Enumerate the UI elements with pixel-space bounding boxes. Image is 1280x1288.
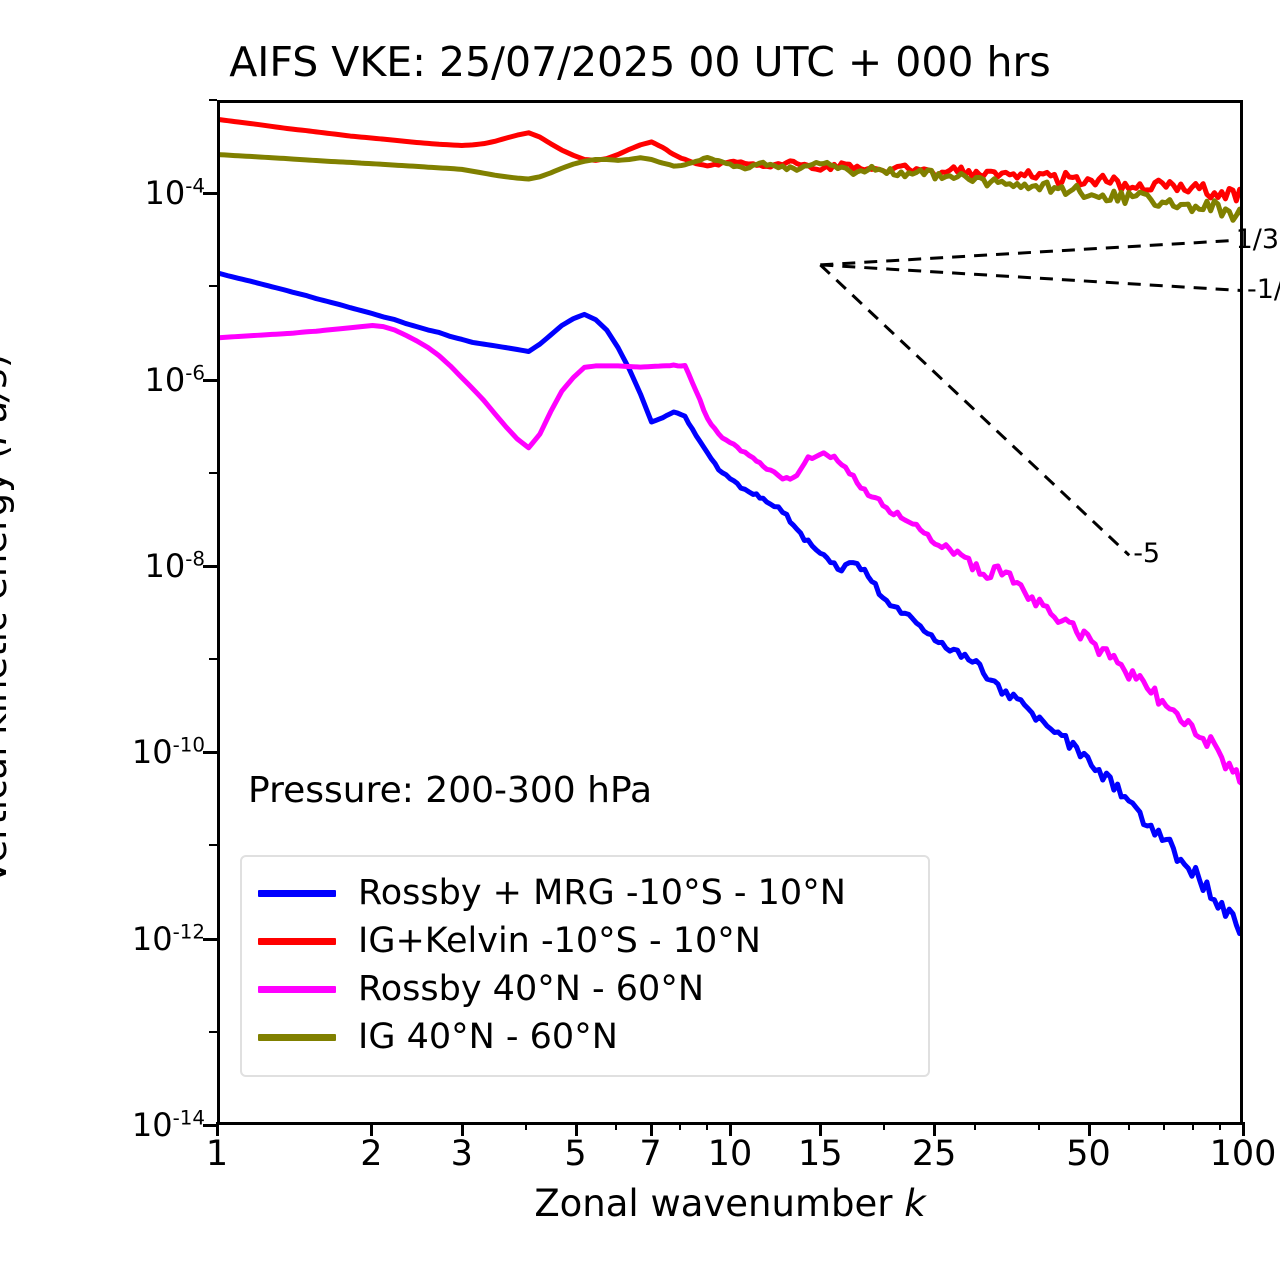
legend-item[interactable]: IG 40°N - 60°N: [258, 1013, 912, 1061]
x-tick-label: 100: [1210, 1134, 1277, 1174]
y-tick-label: 10-8: [145, 547, 206, 585]
y-tick-mark: [203, 565, 217, 568]
x-tick-label: 2: [360, 1134, 382, 1174]
y-tick-base: 10: [145, 547, 186, 585]
legend-color-swatch: [258, 1034, 336, 1041]
legend-color-swatch: [258, 986, 336, 993]
legend-item-label: IG 40°N - 60°N: [358, 1020, 618, 1055]
y-tick-exponent: -10: [173, 734, 205, 757]
y-tick-mark: [203, 751, 217, 754]
x-axis-label-symbol: k: [904, 1182, 925, 1225]
slope-label-1neg3: 1/3: [1236, 224, 1279, 255]
y-tick-mark: [203, 192, 217, 195]
y-tick-mark: [203, 1124, 217, 1127]
y-tick-exponent: -12: [173, 920, 205, 943]
y-axis-tick-labels: 10-410-610-810-1010-1210-14: [0, 0, 205, 1288]
slope-label-neg5: -5: [1133, 538, 1160, 569]
y-tick-mark-minor: [209, 285, 217, 287]
y-tick-base: 10: [145, 174, 186, 212]
y-tick-base: 10: [132, 920, 173, 958]
figure-canvas: AIFS VKE: 25/07/2025 00 UTC + 000 hrs Ve…: [0, 0, 1280, 1288]
y-tick-label: 10-4: [145, 174, 206, 212]
y-tick-mark-minor: [209, 472, 217, 474]
x-tick-label: 1: [206, 1134, 228, 1174]
y-tick-mark-minor: [209, 658, 217, 660]
legend-item[interactable]: Rossby 40°N - 60°N: [258, 965, 912, 1013]
chart-legend: Rossby + MRG -10°S - 10°NIG+Kelvin -10°S…: [240, 855, 930, 1077]
y-tick-base: 10: [145, 361, 186, 399]
legend-item[interactable]: IG+Kelvin -10°S - 10°N: [258, 917, 912, 965]
y-tick-mark: [203, 938, 217, 941]
x-tick-label: 10: [708, 1134, 753, 1174]
y-tick-label: 10-10: [132, 733, 205, 771]
y-tick-mark-minor: [209, 1031, 217, 1033]
x-tick-label: 15: [798, 1134, 843, 1174]
x-tick-label: 7: [639, 1134, 661, 1174]
x-tick-label: 5: [564, 1134, 586, 1174]
y-tick-label: 10-14: [132, 1106, 205, 1144]
y-tick-mark-minor: [209, 844, 217, 846]
slope-label-neg1-3: -1/3: [1247, 274, 1280, 305]
y-tick-mark: [203, 379, 217, 382]
y-tick-exponent: -14: [173, 1106, 205, 1129]
legend-item-label: Rossby 40°N - 60°N: [358, 972, 704, 1007]
x-axis-label-prefix: Zonal wavenumber: [534, 1182, 904, 1225]
x-axis-label: Zonal wavenumber k: [217, 1182, 1243, 1225]
legend-color-swatch: [258, 938, 336, 945]
y-tick-base: 10: [132, 1106, 173, 1144]
y-tick-base: 10: [132, 733, 173, 771]
pressure-annotation: Pressure: 200-300 hPa: [248, 770, 652, 811]
legend-item[interactable]: Rossby + MRG -10°S - 10°N: [258, 869, 912, 917]
legend-item-label: Rossby + MRG -10°S - 10°N: [358, 876, 846, 911]
legend-color-swatch: [258, 890, 336, 897]
y-tick-mark-minor: [209, 99, 217, 101]
legend-item-label: IG+Kelvin -10°S - 10°N: [358, 924, 761, 959]
x-tick-label: 3: [451, 1134, 473, 1174]
y-tick-label: 10-6: [145, 361, 206, 399]
x-tick-label: 50: [1066, 1134, 1111, 1174]
y-tick-label: 10-12: [132, 920, 205, 958]
x-tick-label: 25: [912, 1134, 957, 1174]
